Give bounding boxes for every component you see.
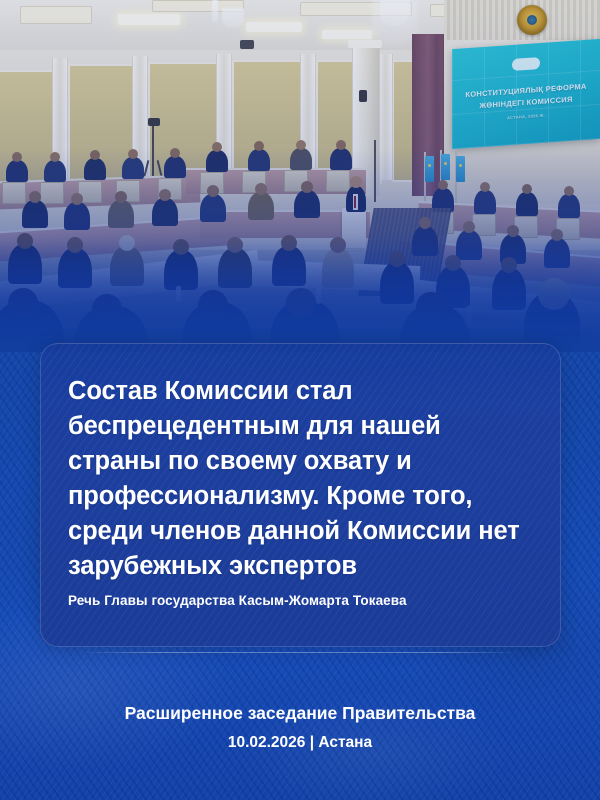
quote-text: Состав Комиссии стал беспрецедентным для… <box>68 374 530 584</box>
quote-attribution: Речь Главы государства Касым-Жомарта Ток… <box>68 593 407 608</box>
footer: Расширенное заседание Правительства 10.0… <box>0 700 600 756</box>
footer-event-title: Расширенное заседание Правительства <box>0 700 600 726</box>
photo-bottom-fade <box>0 240 600 352</box>
meeting-hall-photograph: КОНСТИТУЦИЯЛЫҚ РЕФОРМА ЖӨНІНДЕГІ КОМИССИ… <box>0 0 600 352</box>
quote-poster: КОНСТИТУЦИЯЛЫҚ РЕФОРМА ЖӨНІНДЕГІ КОМИССИ… <box>0 0 600 800</box>
quote-card: Состав Комиссии стал беспрецедентным для… <box>40 343 561 647</box>
quote-card-content: Состав Комиссии стал беспрецедентным для… <box>41 344 560 584</box>
footer-date-location: 10.02.2026 | Астана <box>0 730 600 756</box>
footer-divider <box>78 652 522 653</box>
